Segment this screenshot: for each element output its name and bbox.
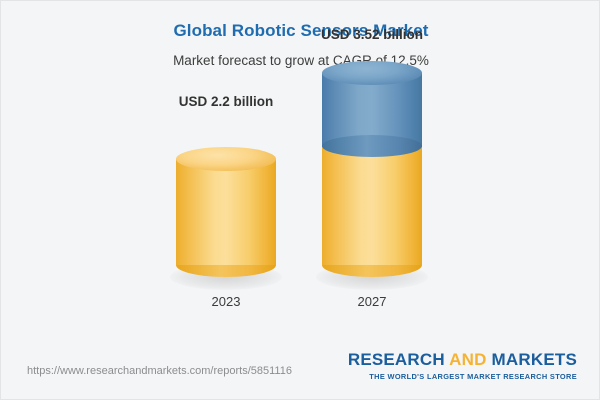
brand-word-and: AND [449, 350, 486, 369]
brand-word-markets: MARKETS [492, 350, 577, 369]
bar-category-label-2027: 2027 [272, 294, 472, 309]
bar-group-2027[interactable]: USD 3.52 billion 2027 [272, 89, 472, 349]
brand-tagline: THE WORLD'S LARGEST MARKET RESEARCH STOR… [348, 372, 577, 381]
report-url[interactable]: https://www.researchandmarkets.com/repor… [27, 365, 292, 377]
bar-cylinder-2027-growth[interactable] [322, 61, 422, 159]
chart-plot-area: USD 2.2 billion 2023 USD 3.52 billion [1, 1, 600, 349]
brand-word-research: RESEARCH [348, 350, 445, 369]
brand-logo-wordmark: RESEARCH AND MARKETS [348, 350, 577, 370]
brand-logo[interactable]: RESEARCH AND MARKETS THE WORLD'S LARGEST… [348, 350, 577, 381]
bar-data-label-2027: USD 3.52 billion [272, 27, 472, 42]
bar-cylinder-2023[interactable] [176, 147, 276, 277]
bar-cylinder-body-2023 [176, 159, 276, 265]
bar-cylinder-cap-2027 [322, 61, 422, 85]
chart-card: Global Robotic Sensors Market Market for… [0, 0, 600, 400]
bar-cylinder-cap-2023 [176, 147, 276, 171]
bar-cylinder-body-2027-base [322, 147, 422, 265]
bar-cylinder-seam-2027 [322, 135, 422, 157]
bar-cylinder-2027-base[interactable] [322, 147, 422, 277]
